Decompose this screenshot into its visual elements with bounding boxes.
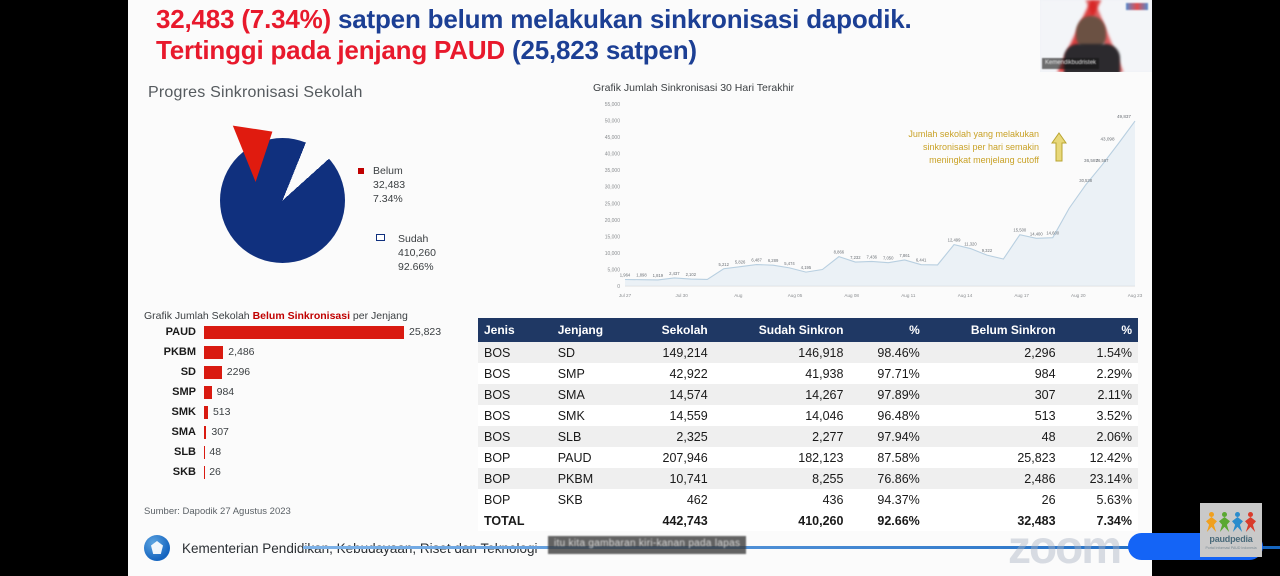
col-jenjang: Jenjang xyxy=(552,318,633,342)
y-axis-tick-label: 50,000 xyxy=(605,119,621,125)
bar-chart-panel: Grafik Jumlah Sekolah Belum Sinkronisasi… xyxy=(144,310,474,525)
zoom-watermark: zoom xyxy=(1008,520,1120,574)
bar-value-label: 26 xyxy=(204,466,221,478)
data-point-label: 2,102 xyxy=(686,272,697,277)
cell-sekolah: 42,922 xyxy=(632,363,713,384)
paudpedia-figures-icon xyxy=(1206,510,1256,532)
cell-pct-sudah: 97.89% xyxy=(849,384,925,405)
cell-pct-belum: 12.42% xyxy=(1062,447,1138,468)
pie-chart-panel: Progres Sinkronisasi Sekolah Belum 32,48… xyxy=(148,84,568,299)
webcam-logo-icon xyxy=(1126,3,1148,10)
y-axis-tick-label: 5,000 xyxy=(607,267,620,273)
bar-row: SKB26 xyxy=(144,462,474,482)
cell-pct-belum: 2.11% xyxy=(1062,384,1138,405)
line-chart-title: Grafik Jumlah Sinkronisasi 30 Hari Terak… xyxy=(593,82,1143,94)
cell-jenjang: SD xyxy=(552,342,633,363)
data-point-label: 49,837 xyxy=(1117,114,1131,119)
data-point-label: 4,195 xyxy=(801,265,812,270)
cell-sekolah: 149,214 xyxy=(632,342,713,363)
legend-sudah: Sudah 410,260 92.66% xyxy=(398,232,436,274)
cell-jenis: BOS xyxy=(478,363,552,384)
legend-sudah-percent: 92.66% xyxy=(398,260,436,274)
data-point-label: 14,600 xyxy=(1046,231,1059,236)
data-point-label: 12,499 xyxy=(948,238,961,243)
pie-chart-title: Progres Sinkronisasi Sekolah xyxy=(148,84,568,102)
data-point-label: 5,212 xyxy=(718,262,729,267)
cell-pct-belum: 3.52% xyxy=(1062,405,1138,426)
cell-belum: 26 xyxy=(926,489,1062,510)
bar-row: SD2296 xyxy=(144,362,474,382)
cell-jenjang: SMK xyxy=(552,405,633,426)
bar-category-label: SMP xyxy=(144,386,204,398)
cell-belum: 2,296 xyxy=(926,342,1062,363)
col-pct-belum: % xyxy=(1062,318,1138,342)
table-body: BOSSD149,214146,91898.46%2,2961.54%BOSSM… xyxy=(478,342,1138,531)
bar-category-label: SMK xyxy=(144,406,204,418)
cell-pct-sudah: 96.48% xyxy=(849,405,925,426)
figure-orange-icon xyxy=(1206,512,1217,532)
cell-sudah: 436 xyxy=(714,489,850,510)
x-axis-tick-label: Aug 05 xyxy=(788,293,803,298)
data-point-label: 7,050 xyxy=(883,256,894,261)
data-point-label: 6,289 xyxy=(768,258,779,263)
legend-belum-value: 32,483 xyxy=(373,178,405,192)
cell-pct-belum: 2.29% xyxy=(1062,363,1138,384)
cell-pct-sudah: 94.37% xyxy=(849,489,925,510)
bar-chart-title: Grafik Jumlah Sekolah Belum Sinkronisasi… xyxy=(144,310,474,322)
bar-row: SLB48 xyxy=(144,442,474,462)
y-axis-tick-label: 55,000 xyxy=(605,102,621,108)
paudpedia-wordmark: paudpedia xyxy=(1209,534,1252,544)
bar-value-label: 513 xyxy=(208,406,231,418)
figure-red-icon xyxy=(1245,512,1256,532)
webcam-video-tile[interactable]: Kemendikbudristek xyxy=(1040,0,1152,72)
cell-pct-sudah: 97.94% xyxy=(849,426,925,447)
legend-belum-percent: 7.34% xyxy=(373,192,405,206)
bar-title-highlight: Belum Sinkronisasi xyxy=(253,310,350,322)
bar-category-label: PKBM xyxy=(144,346,204,358)
cell-sudah: 8,255 xyxy=(714,468,850,489)
source-note: Sumber: Dapodik 27 Agustus 2023 xyxy=(144,506,291,517)
table-row: BOSSMP42,92241,93897.71%9842.29% xyxy=(478,363,1138,384)
bar-category-label: PAUD xyxy=(144,326,204,338)
cell-jenis: BOP xyxy=(478,489,552,510)
cell-pct-belum: 2.06% xyxy=(1062,426,1138,447)
bar-row: SMP984 xyxy=(144,382,474,402)
table-header-row: Jenis Jenjang Sekolah Sudah Sinkron % Be… xyxy=(478,318,1138,342)
col-jenis: Jenis xyxy=(478,318,552,342)
cell-jenjang: PKBM xyxy=(552,468,633,489)
x-axis-tick-label: Aug 11 xyxy=(901,293,916,298)
y-axis-tick-label: 45,000 xyxy=(605,135,621,141)
title-line-1: 32,483 (7.34%) satpen belum melakukan si… xyxy=(156,4,1036,35)
table-row: BOSSLB2,3252,27797.94%482.06% xyxy=(478,426,1138,447)
col-sudah-sinkron: Sudah Sinkron xyxy=(714,318,850,342)
cell-sekolah: 14,559 xyxy=(632,405,713,426)
cell-sudah: 41,938 xyxy=(714,363,850,384)
bar-category-label: SD xyxy=(144,366,204,378)
bar-value-label: 25,823 xyxy=(404,326,441,338)
line-chart-panel: Grafik Jumlah Sinkronisasi 30 Hari Terak… xyxy=(583,82,1143,304)
bar-category-label: SMA xyxy=(144,426,204,438)
table-row: BOSSD149,214146,91898.46%2,2961.54% xyxy=(478,342,1138,363)
paudpedia-tagline: Portal Informasi PAUD Indonesia xyxy=(1205,546,1256,550)
data-point-label: 36,587 xyxy=(1084,158,1098,163)
data-point-label: 1,964 xyxy=(620,273,631,278)
y-axis-tick-label: 25,000 xyxy=(605,201,621,207)
y-axis-tick-label: 10,000 xyxy=(605,251,621,257)
data-point-label: 8,866 xyxy=(834,250,845,255)
speaker-name-label: Kemendikbudristek xyxy=(1042,58,1099,69)
x-axis-tick-label: Aug 14 xyxy=(958,293,973,298)
legend-marker-belum xyxy=(358,168,364,174)
title-line-2-rest: (25,823 satpen) xyxy=(505,35,697,65)
data-point-label: 15,500 xyxy=(1013,228,1026,233)
line-chart-svg: 05,00010,00015,00020,00025,00030,00035,0… xyxy=(583,100,1143,300)
data-point-label: 6,441 xyxy=(916,258,927,263)
cell-sudah: 2,277 xyxy=(714,426,850,447)
bar-value-label: 48 xyxy=(204,446,221,458)
pie-slice-sudah xyxy=(220,138,345,263)
live-caption-overlay: itu kita gambaran kiri-kanan pada lapas xyxy=(548,536,746,554)
table-row: BOPSKB46243694.37%265.63% xyxy=(478,489,1138,510)
table-row: BOPPKBM10,7418,25576.86%2,48623.14% xyxy=(478,468,1138,489)
cell-pct-belum: 5.63% xyxy=(1062,489,1138,510)
line-chart-annotation: Jumlah sekolah yang melakukan sinkronisa… xyxy=(899,128,1039,167)
data-table-panel: Jenis Jenjang Sekolah Sudah Sinkron % Be… xyxy=(478,318,1138,531)
cell-sekolah: 10,741 xyxy=(632,468,713,489)
legend-sudah-value: 410,260 xyxy=(398,246,436,260)
cell-jenis: BOP xyxy=(478,468,552,489)
data-point-label: 30,538 xyxy=(1079,178,1092,183)
data-point-label: 14,400 xyxy=(1030,231,1043,236)
bar-value-label: 307 xyxy=(206,426,229,438)
data-point-label: 1,819 xyxy=(653,273,664,278)
cell-belum: 2,486 xyxy=(926,468,1062,489)
data-point-label: 11,320 xyxy=(964,242,977,247)
y-axis-tick-label: 0 xyxy=(617,284,620,290)
cell-pct-belum: 1.54% xyxy=(1062,342,1138,363)
title-line-2: Tertinggi pada jenjang PAUD (25,823 satp… xyxy=(156,35,1036,66)
data-point-label: 2,437 xyxy=(669,271,680,276)
paudpedia-logo-tile: paudpedia Portal Informasi PAUD Indonesi… xyxy=(1200,503,1262,557)
legend-marker-sudah xyxy=(376,234,385,241)
cell-belum: 48 xyxy=(926,426,1062,447)
x-axis-tick-label: Aug 23 xyxy=(1128,293,1143,298)
bar-fill xyxy=(204,346,223,359)
bar-fill xyxy=(204,366,222,379)
bar-chart-rows: PAUD25,823PKBM2,486SD2296SMP984SMK513SMA… xyxy=(144,322,474,482)
cell-belum: 984 xyxy=(926,363,1062,384)
bar-row: SMA307 xyxy=(144,422,474,442)
data-point-label: 6,487 xyxy=(751,258,762,263)
pie-chart: Belum 32,483 7.34% Sudah 410,260 92.66% xyxy=(198,116,558,291)
cell-sekolah: 14,574 xyxy=(632,384,713,405)
cell-jenis: BOS xyxy=(478,384,552,405)
title-line-1-rest: satpen belum melakukan sinkronisasi dapo… xyxy=(331,4,912,34)
bar-value-label: 2,486 xyxy=(223,346,254,358)
page-title: 32,483 (7.34%) satpen belum melakukan si… xyxy=(156,4,1036,66)
cell-sekolah: 207,946 xyxy=(632,447,713,468)
figure-green-icon xyxy=(1219,512,1230,532)
presentation-slide: 32,483 (7.34%) satpen belum melakukan si… xyxy=(128,0,1152,576)
legend-belum: Belum 32,483 7.34% xyxy=(373,164,405,206)
bar-row: PKBM2,486 xyxy=(144,342,474,362)
data-point-label: 1,898 xyxy=(636,273,647,278)
table-row: BOPPAUD207,946182,12387.58%25,82312.42% xyxy=(478,447,1138,468)
data-point-label: 7,232 xyxy=(850,255,861,260)
x-axis-tick-label: Aug 20 xyxy=(1071,293,1086,298)
cell-jenjang: SLB xyxy=(552,426,633,447)
data-point-label: 7,436 xyxy=(867,254,878,259)
data-point-label: 43,098 xyxy=(1100,136,1114,141)
x-axis-tick-label: Jul 30 xyxy=(676,293,689,298)
cell-pct-sudah: 97.71% xyxy=(849,363,925,384)
y-axis-tick-label: 40,000 xyxy=(605,152,621,158)
data-point-label: 5,826 xyxy=(735,260,746,265)
cell-jenjang: SMP xyxy=(552,363,633,384)
title-highlight-count: 32,483 (7.34%) xyxy=(156,4,331,34)
data-point-label: 9,322 xyxy=(982,248,993,253)
y-axis-tick-label: 30,000 xyxy=(605,185,621,191)
cell-sekolah: 2,325 xyxy=(632,426,713,447)
bar-row: PAUD25,823 xyxy=(144,322,474,342)
cell-jenjang: PAUD xyxy=(552,447,633,468)
bar-title-pre: Grafik Jumlah Sekolah xyxy=(144,310,253,322)
col-pct-sudah: % xyxy=(849,318,925,342)
cell-belum: 513 xyxy=(926,405,1062,426)
video-conference-screen: 32,483 (7.34%) satpen belum melakukan si… xyxy=(0,0,1280,576)
cell-jenis: BOS xyxy=(478,342,552,363)
y-axis-tick-label: 35,000 xyxy=(605,168,621,174)
title-highlight-paud: Tertinggi pada jenjang PAUD xyxy=(156,35,505,65)
up-arrow-icon xyxy=(1051,132,1067,162)
bar-value-label: 2296 xyxy=(222,366,250,378)
cell-sudah: 182,123 xyxy=(714,447,850,468)
cell-jenis: BOP xyxy=(478,447,552,468)
x-axis-tick-label: Aug xyxy=(734,293,743,298)
cell-belum: 307 xyxy=(926,384,1062,405)
cell-jenjang: SKB xyxy=(552,489,633,510)
bar-category-label: SLB xyxy=(144,446,204,458)
table-head: Jenis Jenjang Sekolah Sudah Sinkron % Be… xyxy=(478,318,1138,342)
cell-sekolah: 462 xyxy=(632,489,713,510)
data-point-label: 5,474 xyxy=(784,261,795,266)
cell-pct-belum: 23.14% xyxy=(1062,468,1138,489)
cell-sudah: 14,046 xyxy=(714,405,850,426)
cell-jenjang: SMA xyxy=(552,384,633,405)
x-axis-tick-label: Aug 08 xyxy=(844,293,859,298)
x-axis-tick-label: Jul 27 xyxy=(619,293,632,298)
line-chart-plot: 05,00010,00015,00020,00025,00030,00035,0… xyxy=(583,100,1143,300)
col-sekolah: Sekolah xyxy=(632,318,713,342)
cell-sudah: 14,267 xyxy=(714,384,850,405)
kemendikbud-logo-icon xyxy=(144,535,170,561)
bar-title-post: per Jenjang xyxy=(350,310,408,322)
cell-jenis: BOS xyxy=(478,426,552,447)
cell-pct-sudah: 76.86% xyxy=(849,468,925,489)
cell-pct-sudah: 87.58% xyxy=(849,447,925,468)
cell-pct-sudah: 98.46% xyxy=(849,342,925,363)
x-axis-tick-label: Aug 17 xyxy=(1014,293,1029,298)
cell-sudah: 146,918 xyxy=(714,342,850,363)
cell-belum: 25,823 xyxy=(926,447,1062,468)
bar-row: SMK513 xyxy=(144,402,474,422)
cell-jenis: BOS xyxy=(478,405,552,426)
y-axis-tick-label: 15,000 xyxy=(605,234,621,240)
bar-category-label: SKB xyxy=(144,466,204,478)
table-row: BOSSMK14,55914,04696.48%5133.52% xyxy=(478,405,1138,426)
bar-fill xyxy=(204,386,212,399)
legend-sudah-label: Sudah xyxy=(398,232,436,246)
col-belum-sinkron: Belum Sinkron xyxy=(926,318,1062,342)
bar-value-label: 984 xyxy=(212,386,235,398)
y-axis-tick-label: 20,000 xyxy=(605,218,621,224)
data-point-label: 7,861 xyxy=(899,253,910,258)
figure-blue-icon xyxy=(1232,512,1243,532)
sinkronisasi-table: Jenis Jenjang Sekolah Sudah Sinkron % Be… xyxy=(478,318,1138,531)
legend-belum-label: Belum xyxy=(373,164,405,178)
bar-fill xyxy=(204,326,404,339)
table-row: BOSSMA14,57414,26797.89%3072.11% xyxy=(478,384,1138,405)
